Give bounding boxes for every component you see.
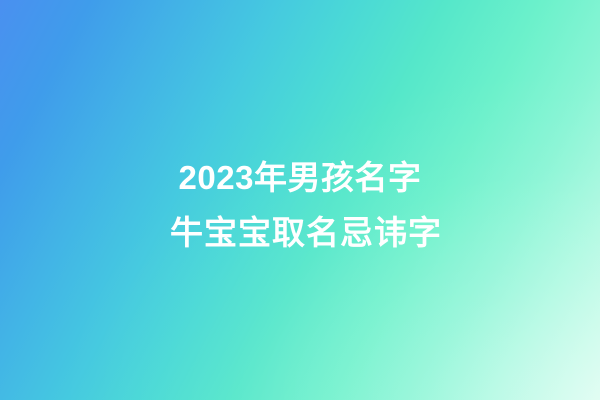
banner-title-line-1: 2023年男孩名字	[24, 150, 576, 205]
banner-title-line-2: 牛宝宝取名忌讳字	[24, 205, 576, 260]
banner-title-block: 2023年男孩名字 牛宝宝取名忌讳字	[0, 150, 600, 260]
banner-card: 2023年男孩名字 牛宝宝取名忌讳字	[0, 0, 600, 400]
